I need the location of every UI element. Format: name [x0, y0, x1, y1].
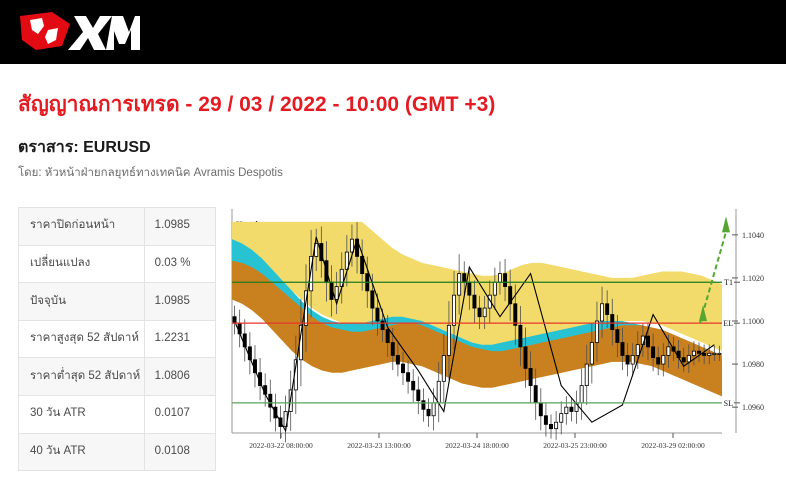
candle-body — [422, 401, 425, 410]
candle-body — [549, 424, 552, 428]
stat-value: 0.0108 — [144, 433, 215, 471]
candle-body — [503, 274, 506, 287]
market-stats-table: ราคาปิดก่อนหน้า 1.0985 เปลี่ยนแปลง 0.03 … — [18, 207, 216, 471]
stat-value: 0.03 % — [144, 245, 215, 283]
candle-body — [590, 343, 593, 365]
stat-value: 1.0806 — [144, 358, 215, 396]
candle-body — [708, 353, 711, 355]
candle-body — [611, 315, 614, 330]
stat-label: ราคาปิดก่อนหน้า — [19, 208, 145, 246]
price-axis-ticks: 1.10401.10201.10001.09801.0960 — [732, 231, 764, 412]
candle-body — [407, 373, 410, 382]
signal-page: สัญญาณการเทรด - 29 / 03 / 2022 - 10:00 (… — [0, 0, 786, 477]
candle-body — [529, 368, 532, 385]
y-tick-label: 1.0960 — [742, 403, 764, 412]
candle-body — [412, 381, 415, 390]
stat-value: 1.2231 — [144, 320, 215, 358]
table-row: เปลี่ยนแปลง 0.03 % — [19, 245, 216, 283]
y-tick-label: 1.1040 — [742, 231, 764, 240]
stat-value: 0.0107 — [144, 395, 215, 433]
candle-body — [703, 353, 706, 355]
candle-body — [687, 355, 690, 361]
candle-body — [458, 274, 461, 296]
logo-wordmark — [68, 16, 140, 50]
candle-body — [585, 364, 588, 386]
candle-body — [646, 336, 649, 347]
price-chart[interactable]: Hourly T1ELSL 1.10401.10201.10001.09801.… — [228, 207, 776, 459]
candle-body — [442, 355, 445, 381]
candle-body — [544, 416, 547, 425]
candle-body — [396, 355, 399, 364]
candle-body — [468, 282, 471, 295]
level-label-t1: T1 — [724, 278, 733, 287]
x-tick-label: 2022-03-25 23:00:00 — [543, 441, 607, 450]
candle-body — [473, 295, 476, 308]
candle-body — [437, 381, 440, 403]
signal-arrow-head-1 — [722, 216, 730, 232]
x-tick-label: 2022-03-24 18:00:00 — [445, 441, 509, 450]
stat-value: 1.0985 — [144, 208, 215, 246]
candle-body — [565, 407, 568, 413]
stat-label: 30 วัน ATR — [19, 395, 145, 433]
candle-body — [555, 422, 558, 428]
candle-body — [519, 325, 522, 347]
candle-body — [657, 358, 660, 364]
price-chart-canvas: Hourly T1ELSL 1.10401.10201.10001.09801.… — [228, 207, 776, 459]
candle-body — [652, 347, 655, 358]
candle-body — [498, 274, 501, 283]
candle-body — [600, 304, 603, 321]
candle-body — [621, 343, 624, 356]
candle-body — [662, 355, 665, 364]
candle-body — [447, 325, 450, 355]
candle-body — [361, 256, 364, 273]
x-tick-label: 2022-03-23 13:00:00 — [347, 441, 411, 450]
candle-body — [514, 304, 517, 326]
candle-body — [697, 351, 700, 353]
candle-body — [595, 321, 598, 343]
table-row: 30 วัน ATR 0.0107 — [19, 395, 216, 433]
candle-body — [371, 291, 374, 308]
candle-body — [636, 345, 639, 356]
y-tick-label: 1.1000 — [742, 317, 764, 326]
candle-body — [493, 282, 496, 295]
stats-table-body: ราคาปิดก่อนหน้า 1.0985 เปลี่ยนแปลง 0.03 … — [19, 208, 216, 471]
candle-body — [401, 364, 404, 373]
candle-body — [560, 414, 563, 423]
stat-label: เปลี่ยนแปลง — [19, 245, 145, 283]
author-byline: โดย: หัวหน้าฝ่ายกลยุทธ์ทางเทคนิค Avramis… — [18, 164, 283, 182]
candle-body — [534, 386, 537, 403]
candle-body — [335, 287, 338, 300]
candle-body — [391, 343, 394, 356]
candle-body — [682, 358, 685, 362]
candle-body — [478, 308, 481, 317]
table-row: ราคาปิดก่อนหน้า 1.0985 — [19, 208, 216, 246]
candle-body — [606, 304, 609, 315]
candle-body — [539, 403, 542, 416]
top-header-bar — [0, 0, 786, 64]
table-row: ราคาสูงสุด 52 สัปดาห์ 1.2231 — [19, 320, 216, 358]
candle-body — [463, 274, 466, 283]
candle-body — [631, 355, 634, 364]
level-label-sl: SL — [724, 399, 733, 408]
stat-label: 40 วัน ATR — [19, 433, 145, 471]
candle-body — [580, 386, 583, 403]
table-row: 40 วัน ATR 0.0108 — [19, 433, 216, 471]
level-label-el: EL — [723, 319, 733, 328]
candle-body — [483, 308, 486, 317]
x-tick-label: 2022-03-22 08:00:00 — [249, 441, 313, 450]
candle-body — [452, 295, 455, 325]
x-tick-label: 2022-03-29 02:00:00 — [641, 441, 705, 450]
table-row: ราคาต่ำสุด 52 สัปดาห์ 1.0806 — [19, 358, 216, 396]
xm-logo[interactable] — [18, 10, 140, 54]
candle-body — [417, 390, 420, 401]
time-axis-ticks: 2022-03-22 08:00:002022-03-23 13:00:0020… — [249, 433, 705, 450]
stat-label: ราคาต่ำสุด 52 สัปดาห์ — [19, 358, 145, 396]
y-tick-label: 1.1020 — [742, 274, 764, 283]
stat-value: 1.0985 — [144, 283, 215, 321]
page-title: สัญญาณการเทรด - 29 / 03 / 2022 - 10:00 (… — [18, 88, 495, 121]
candle-body — [376, 308, 379, 321]
candle-body — [524, 347, 527, 369]
candle-body — [427, 409, 430, 415]
candle-body — [692, 351, 695, 355]
candle-body — [432, 403, 435, 416]
stat-label: ราคาสูงสุด 52 สัปดาห์ — [19, 320, 145, 358]
stat-label: ปัจจุบัน — [19, 283, 145, 321]
candle-body — [616, 330, 619, 343]
candle-body — [718, 353, 721, 354]
candle-body — [570, 407, 573, 411]
candle-body — [386, 330, 389, 343]
candle-body — [667, 347, 670, 356]
candle-body — [381, 321, 384, 330]
candle-body — [713, 353, 716, 354]
candle-body — [626, 355, 629, 364]
y-tick-label: 1.0980 — [742, 360, 764, 369]
logo-bull-shape — [20, 12, 70, 50]
instrument-label: ตราสาร: EURUSD — [18, 135, 151, 160]
table-row: ปัจจุบัน 1.0985 — [19, 283, 216, 321]
